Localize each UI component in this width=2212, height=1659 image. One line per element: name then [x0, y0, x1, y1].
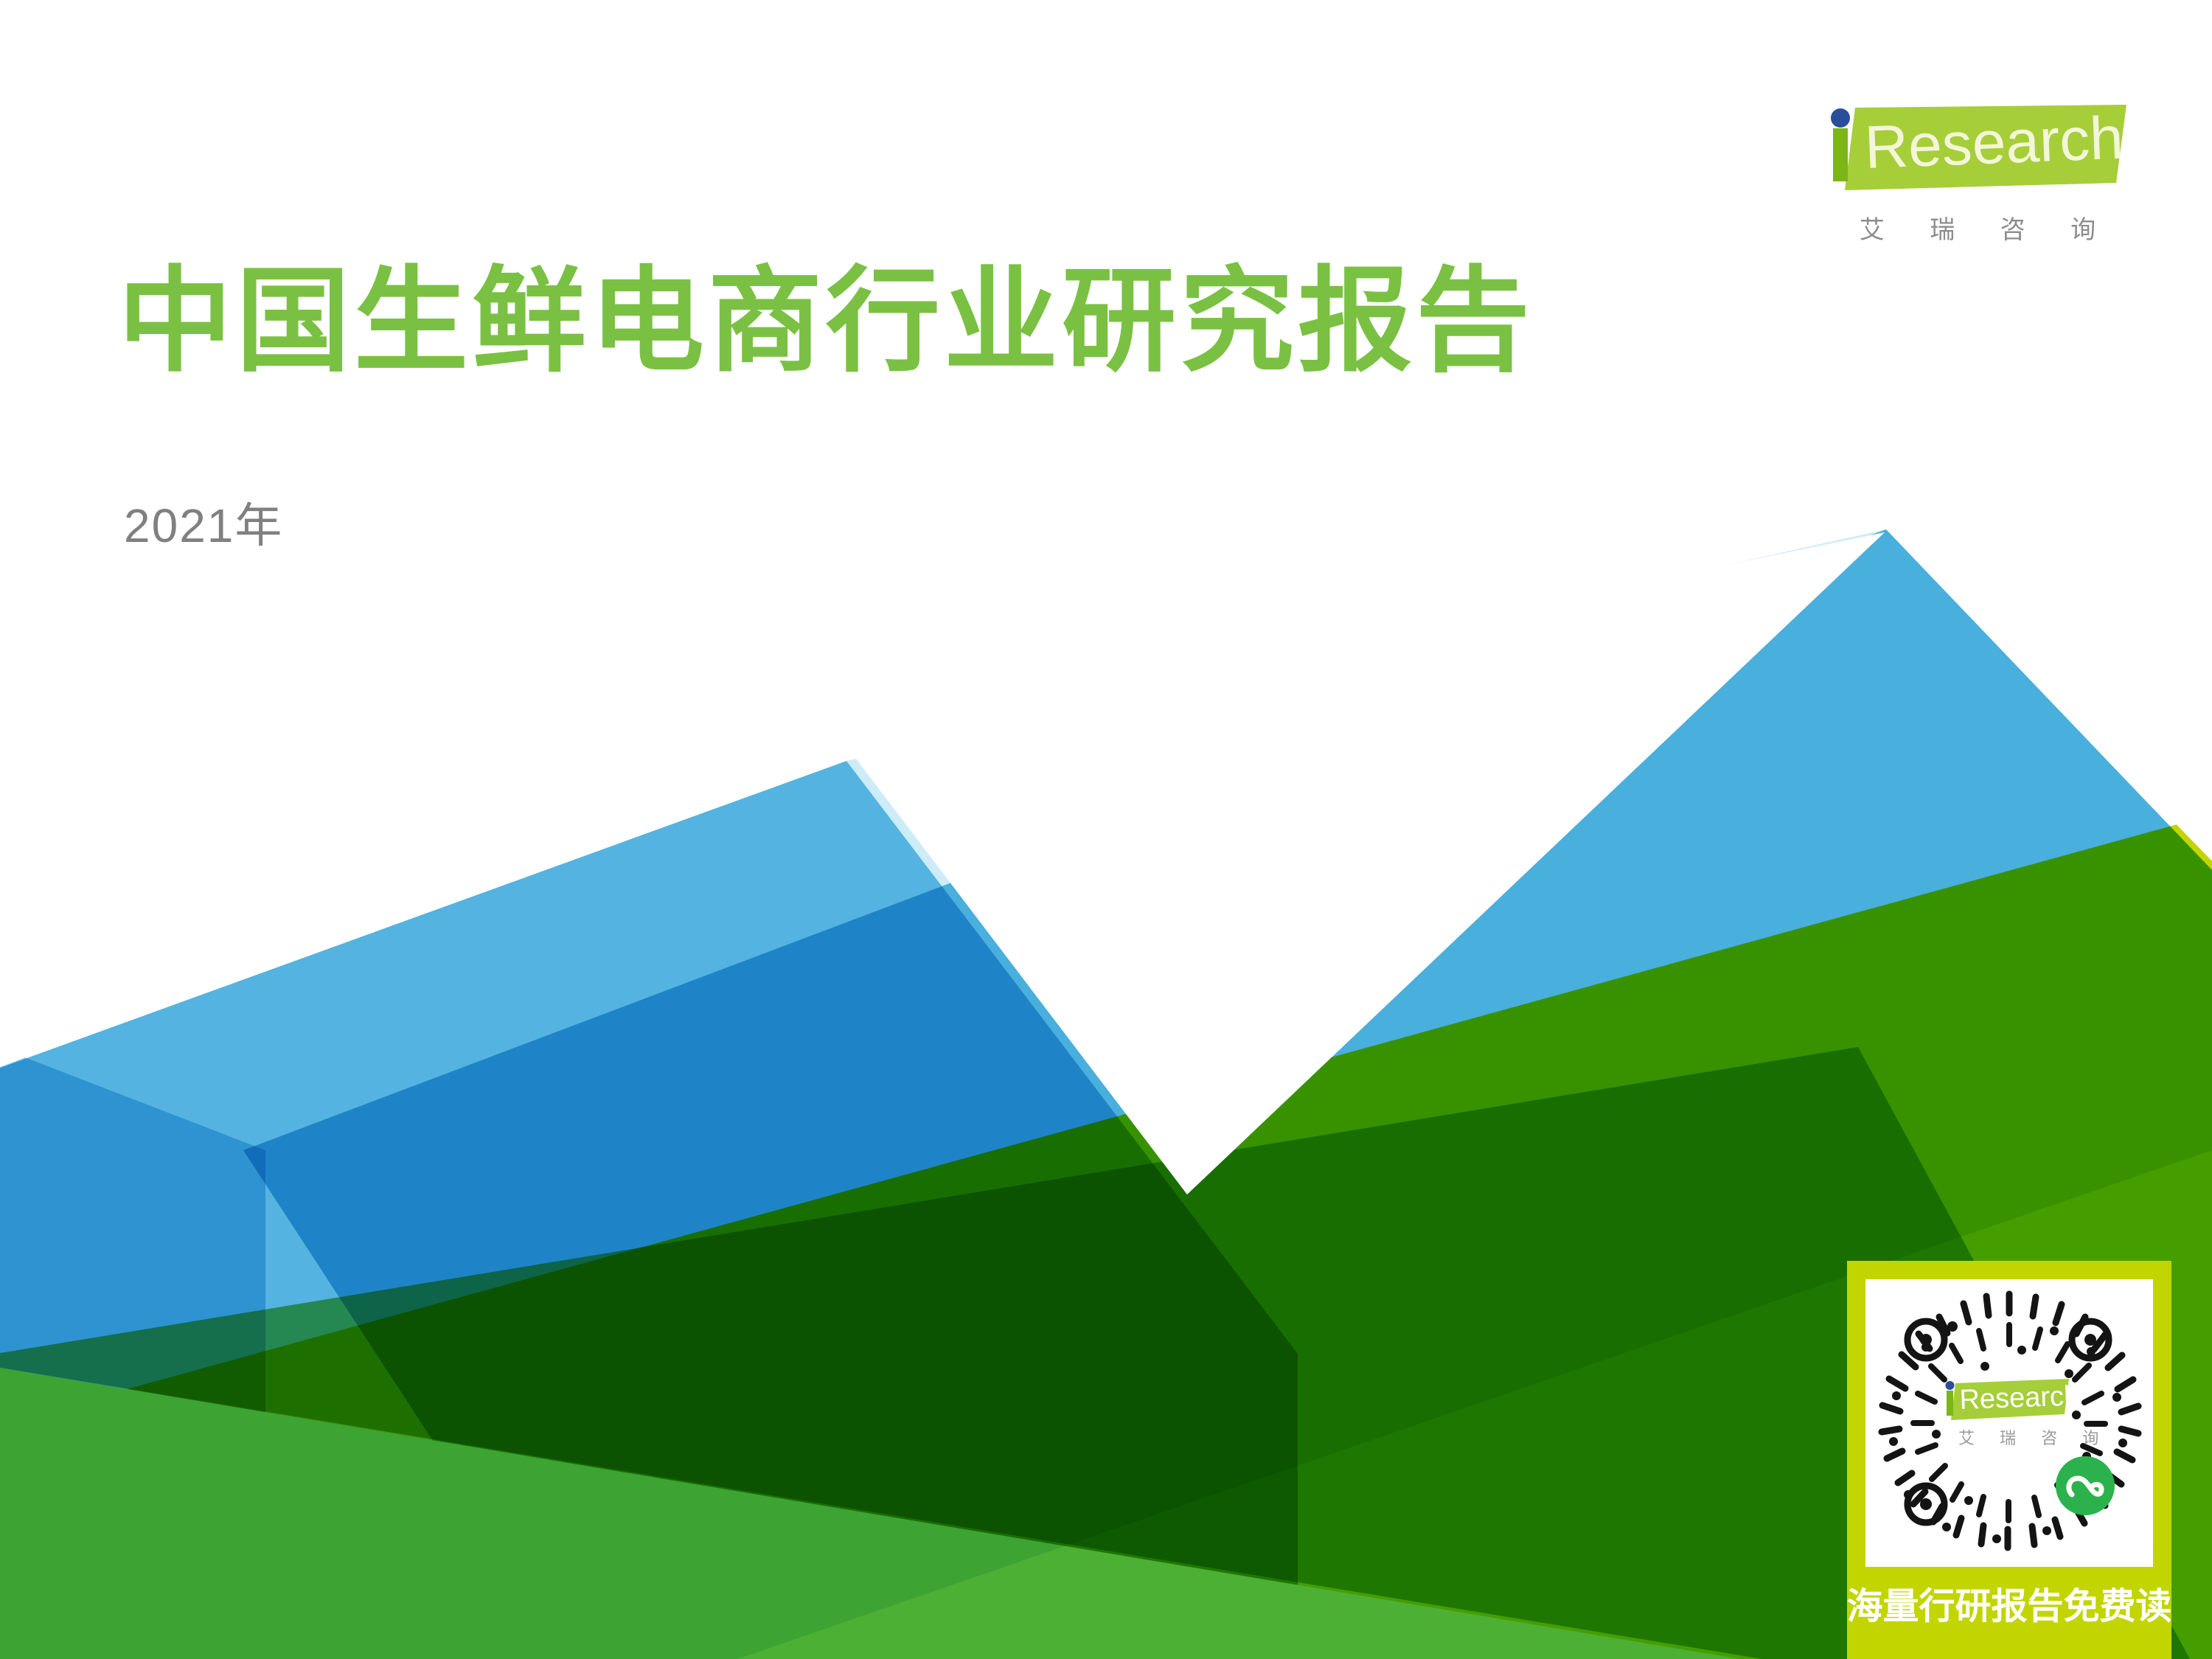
iresearch-logo: Research 艾 瑞 咨 询: [1823, 103, 2132, 258]
logo-i-dot-icon: [1831, 108, 1850, 128]
iresearch-logo-chinese: 艾 瑞 咨 询: [1823, 209, 2132, 246]
qr-code-image[interactable]: Research 艾 瑞 咨 询: [1865, 1279, 2153, 1567]
page-subtitle-year: 2021年: [124, 488, 283, 556]
logo-wordmark: Research: [1863, 105, 2124, 181]
svg-text:艾 瑞 咨 询: 艾 瑞 咨 询: [1958, 1429, 2109, 1447]
report-cover-slide: Research 艾 瑞 咨 询 中国生鲜电商行业研究报告 2021年: [0, 0, 2212, 1659]
iresearch-logo-mark: Research: [1823, 103, 2132, 199]
miniprogram-badge-icon: [2056, 1456, 2115, 1515]
qr-promo-caption: 海量行研报告免费读: [1847, 1577, 2172, 1630]
svg-text:Research: Research: [1959, 1380, 2080, 1416]
logo-i-stem: [1833, 128, 1848, 181]
page-title: 中国生鲜电商行业研究报告: [118, 260, 1534, 383]
qr-promo-card[interactable]: Research 艾 瑞 咨 询 海量行研报告免费读: [1847, 1261, 2171, 1659]
